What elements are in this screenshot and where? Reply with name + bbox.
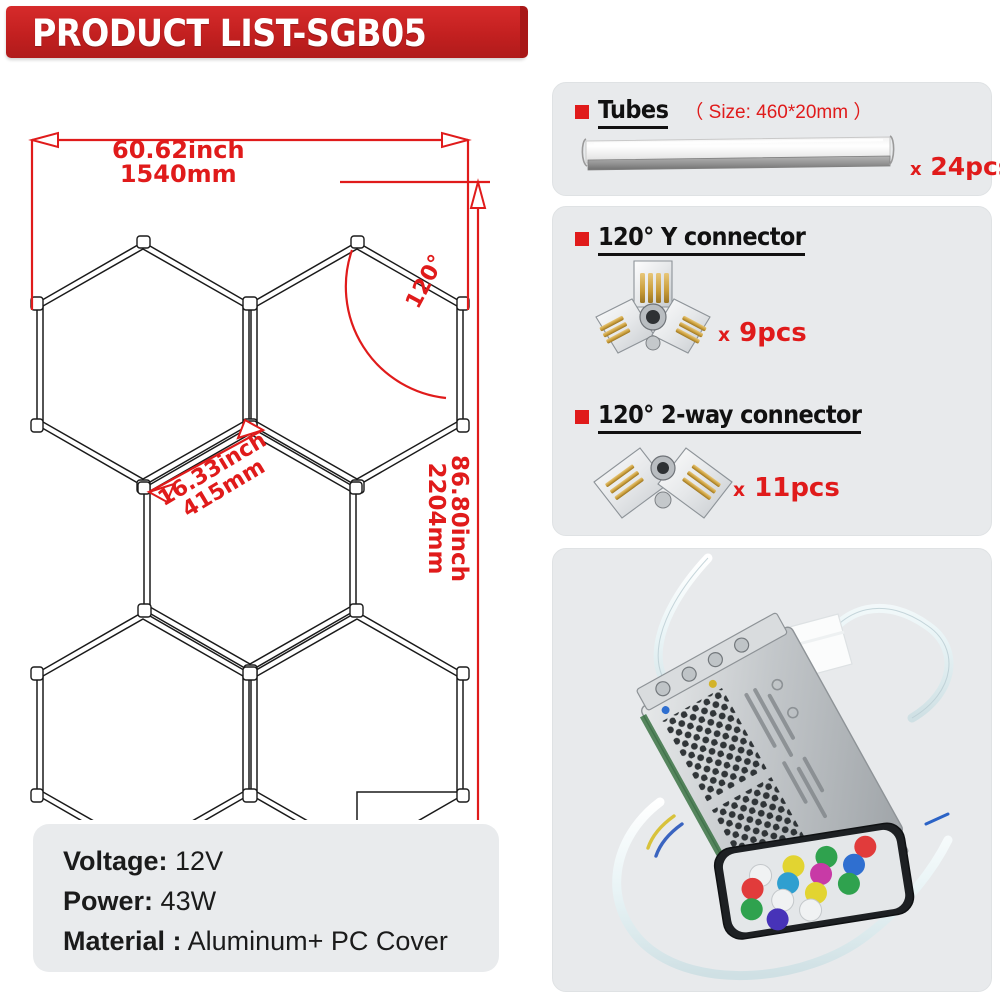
spec-row-material: Material : Aluminum+ PC Cover: [63, 926, 448, 957]
y-connector-title: 120° Y connector: [598, 222, 805, 256]
square-bullet-icon: [575, 410, 589, 424]
spec-row-power: Power: 43W: [63, 886, 216, 917]
hexagon-top-left: [37, 242, 249, 486]
spec-label: Power:: [63, 886, 153, 916]
banner-accent-stripe: [520, 6, 528, 58]
y-connector-qty-value: 9pcs: [739, 318, 807, 348]
product-list-image: PRODUCT LIST-SGB05: [0, 0, 1000, 1000]
connector-joints: [31, 236, 469, 820]
spec-row-voltage: Voltage: 12V: [63, 846, 223, 877]
two-way-connector-heading: 120° 2-way connector: [575, 400, 861, 434]
y-connector-illustration: [588, 255, 718, 375]
y-connector-qty-multiplier: x: [718, 325, 730, 346]
page-title: PRODUCT LIST-SGB05: [32, 12, 426, 56]
square-bullet-icon: [575, 232, 589, 246]
y-connector-quantity: x 9pcs: [718, 318, 807, 348]
width-dimension-label: 60.62inch 1540mm: [112, 138, 245, 187]
power-supply-illustration: [556, 552, 988, 993]
spec-label: Voltage:: [63, 846, 168, 876]
tubes-heading: Tubes （ Size: 460*20mm ）: [575, 95, 872, 129]
tubes-qty-multiplier: x: [910, 159, 922, 180]
spec-value: 43W: [161, 886, 217, 916]
hexagon-layout-diagram: 60.62inch 1540mm 86.80inch 2204mm 16.33i…: [0, 60, 530, 820]
tubes-title: Tubes: [598, 95, 668, 129]
two-way-qty-multiplier: x: [733, 480, 745, 501]
tubes-quantity: x 24pcs: [910, 152, 1000, 181]
hexagon-bottom-right: [251, 612, 463, 820]
two-way-connector-illustration: [588, 440, 738, 535]
specs-box: Voltage: 12V Power: 43W Material : Alumi…: [33, 824, 499, 972]
two-way-connector-quantity: x 11pcs: [733, 473, 840, 503]
two-way-qty-value: 11pcs: [754, 473, 840, 503]
two-way-connector-title: 120° 2-way connector: [598, 400, 861, 434]
spec-value: Aluminum+ PC Cover: [188, 926, 448, 956]
tube-illustration: [578, 133, 898, 180]
height-dimension-label: 86.80inch 2204mm: [423, 455, 470, 582]
y-connector-heading: 120° Y connector: [575, 222, 805, 256]
tubes-qty-value: 24pcs: [930, 152, 1000, 181]
square-bullet-icon: [575, 105, 589, 119]
spec-label: Material :: [63, 926, 182, 956]
spec-value: 12V: [175, 846, 223, 876]
hexagon-bottom-left: [37, 612, 249, 820]
hexagon-tubes: [37, 242, 463, 820]
tubes-size-note: （ Size: 460*20mm ）: [684, 97, 872, 128]
header-banner: PRODUCT LIST-SGB05: [6, 6, 526, 58]
